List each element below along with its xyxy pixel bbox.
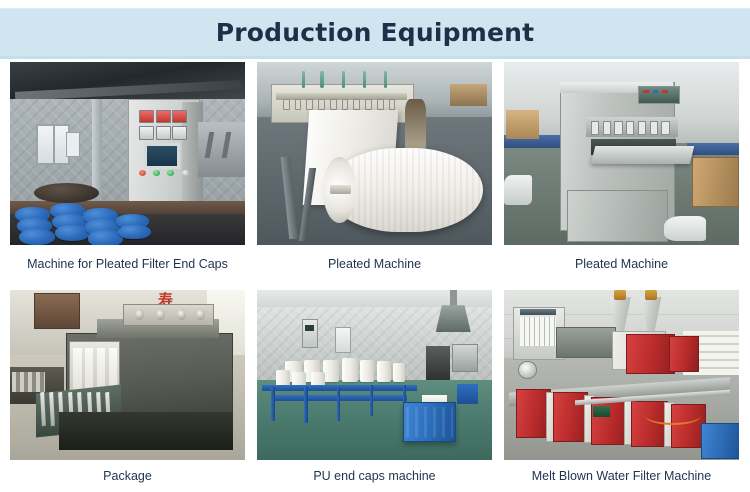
hopper-loader-1 [614,290,626,300]
comb-tooth [614,121,622,136]
comb-peg [306,99,313,110]
equipment-gallery: Machine for Pleated Filter End Caps [10,62,740,484]
panel-button-red-2 [156,110,171,124]
gallery-item-caption: Melt Blown Water Filter Machine [504,460,739,484]
stored-pipes [12,372,45,392]
wall-poster [34,293,81,329]
panel-button-red [662,90,668,94]
worker [405,99,426,150]
air-hose [363,71,366,87]
panel-button-white-1 [139,126,154,140]
orange-hose [645,406,701,425]
air-hose [302,71,305,87]
roll-shaft [330,185,351,194]
output-tray [591,146,694,164]
photo-shrink-tunnel-package[interactable]: 寿 [10,290,245,460]
window-small [66,132,80,158]
gallery-item-melt-blown[interactable]: Melt Blown Water Filter Machine [504,290,739,484]
panel-button-red-1 [139,110,154,124]
machine-base [59,412,233,449]
gallery-item-end-cap-machine[interactable]: Machine for Pleated Filter End Caps [10,62,245,272]
comb-peg [318,99,325,110]
extruder-barrel-cover [556,327,617,358]
control-display [520,309,555,316]
control-knob [156,309,165,320]
gallery-item-pleating-machine-roll[interactable]: Pleated Machine [257,62,492,272]
photo-pleating-machine-roll[interactable] [257,62,492,245]
comb-peg [389,99,396,110]
filter-cartridge-stack [393,363,405,382]
machine-cabinet-red [591,397,628,445]
photo-end-cap-machine[interactable] [10,62,245,245]
comb-tooth [638,121,646,136]
control-knob [135,309,144,320]
control-panel [452,344,478,372]
wall-control-box [302,319,318,348]
panel-button-white-3 [172,126,187,140]
comb-peg [377,99,384,110]
panel-button-red-3 [172,110,187,124]
gallery-item-caption: Package [10,460,245,484]
mixing-vessel [34,183,100,203]
filter-cartridge-stack [342,358,358,382]
blue-plastic-crate [403,402,457,441]
table-leg [337,387,341,421]
comb-peg [330,99,337,110]
gallery-item-pleating-machine-stainless[interactable]: Pleated Machine [504,62,739,272]
photo-pu-end-caps-workshop[interactable] [257,290,492,460]
gallery-item-package[interactable]: 寿 [10,290,245,484]
gallery-item-pu-end-caps[interactable]: PU end caps machine [257,290,492,484]
panel-button-white-2 [156,126,171,140]
photo-pleating-machine-stainless[interactable] [504,62,739,245]
air-hose [384,71,387,87]
machine-cabinet-red-upper-2 [669,336,699,372]
control-knob [177,309,186,320]
support-column [92,99,101,194]
filter-cartridge-stack [323,360,339,382]
machine-base-cabinet [567,190,668,241]
control-panel [638,86,680,104]
comb-tooth [650,121,658,136]
table-leg [304,387,308,423]
blue-end-cap-stack [19,229,54,245]
gallery-item-caption: PU end caps machine [257,460,492,484]
air-hose [320,71,323,87]
table-leg [370,385,374,416]
blue-end-cap-stack [118,225,151,240]
blue-stool [457,384,478,404]
white-bag-left [504,175,532,204]
window [36,124,71,165]
comb-peg [295,99,302,110]
gallery-item-caption: Pleated Machine [504,245,739,272]
comb-peg [342,99,349,110]
photo-melt-blown-machine[interactable] [504,290,739,460]
blue-plastic-crate [701,423,739,459]
comb-tooth [661,121,669,136]
panel-button-blue [653,90,659,94]
window [335,327,351,353]
white-bag-right [664,216,706,242]
page-title: Production Equipment [216,20,535,45]
air-hose [342,71,345,87]
gallery-row-2: 寿 [10,290,740,484]
comb-peg [283,99,290,110]
cardboard-box-left [506,110,539,139]
machine-dark [426,346,450,380]
page-header-banner: Production Equipment [0,8,750,59]
hopper-loader-2 [645,290,657,300]
operator-panel [593,406,609,418]
table-leg [271,387,275,421]
cardboard-boxes [450,84,488,106]
production-equipment-page: Production Equipment [0,0,750,492]
comb-peg [365,99,372,110]
comb-tooth [603,121,611,136]
hmi-touch-screen [144,143,181,169]
filter-cartridge-stack [360,360,374,382]
control-knob [196,309,205,320]
gallery-item-caption: Machine for Pleated Filter End Caps [10,245,245,272]
comb-tooth [626,121,634,136]
cardboard-box-right [692,157,739,207]
comb-peg [353,99,360,110]
pressure-gauge [518,361,536,378]
gallery-item-caption: Pleated Machine [257,245,492,272]
comb-tooth [591,121,599,136]
blue-bench-right [687,143,739,156]
filter-cartridge-stack [377,361,391,381]
panel-button-red [643,90,649,94]
gallery-row-1: Machine for Pleated Filter End Caps [10,62,740,272]
indicator-light-white [182,170,189,176]
control-switch-grid [520,317,555,346]
